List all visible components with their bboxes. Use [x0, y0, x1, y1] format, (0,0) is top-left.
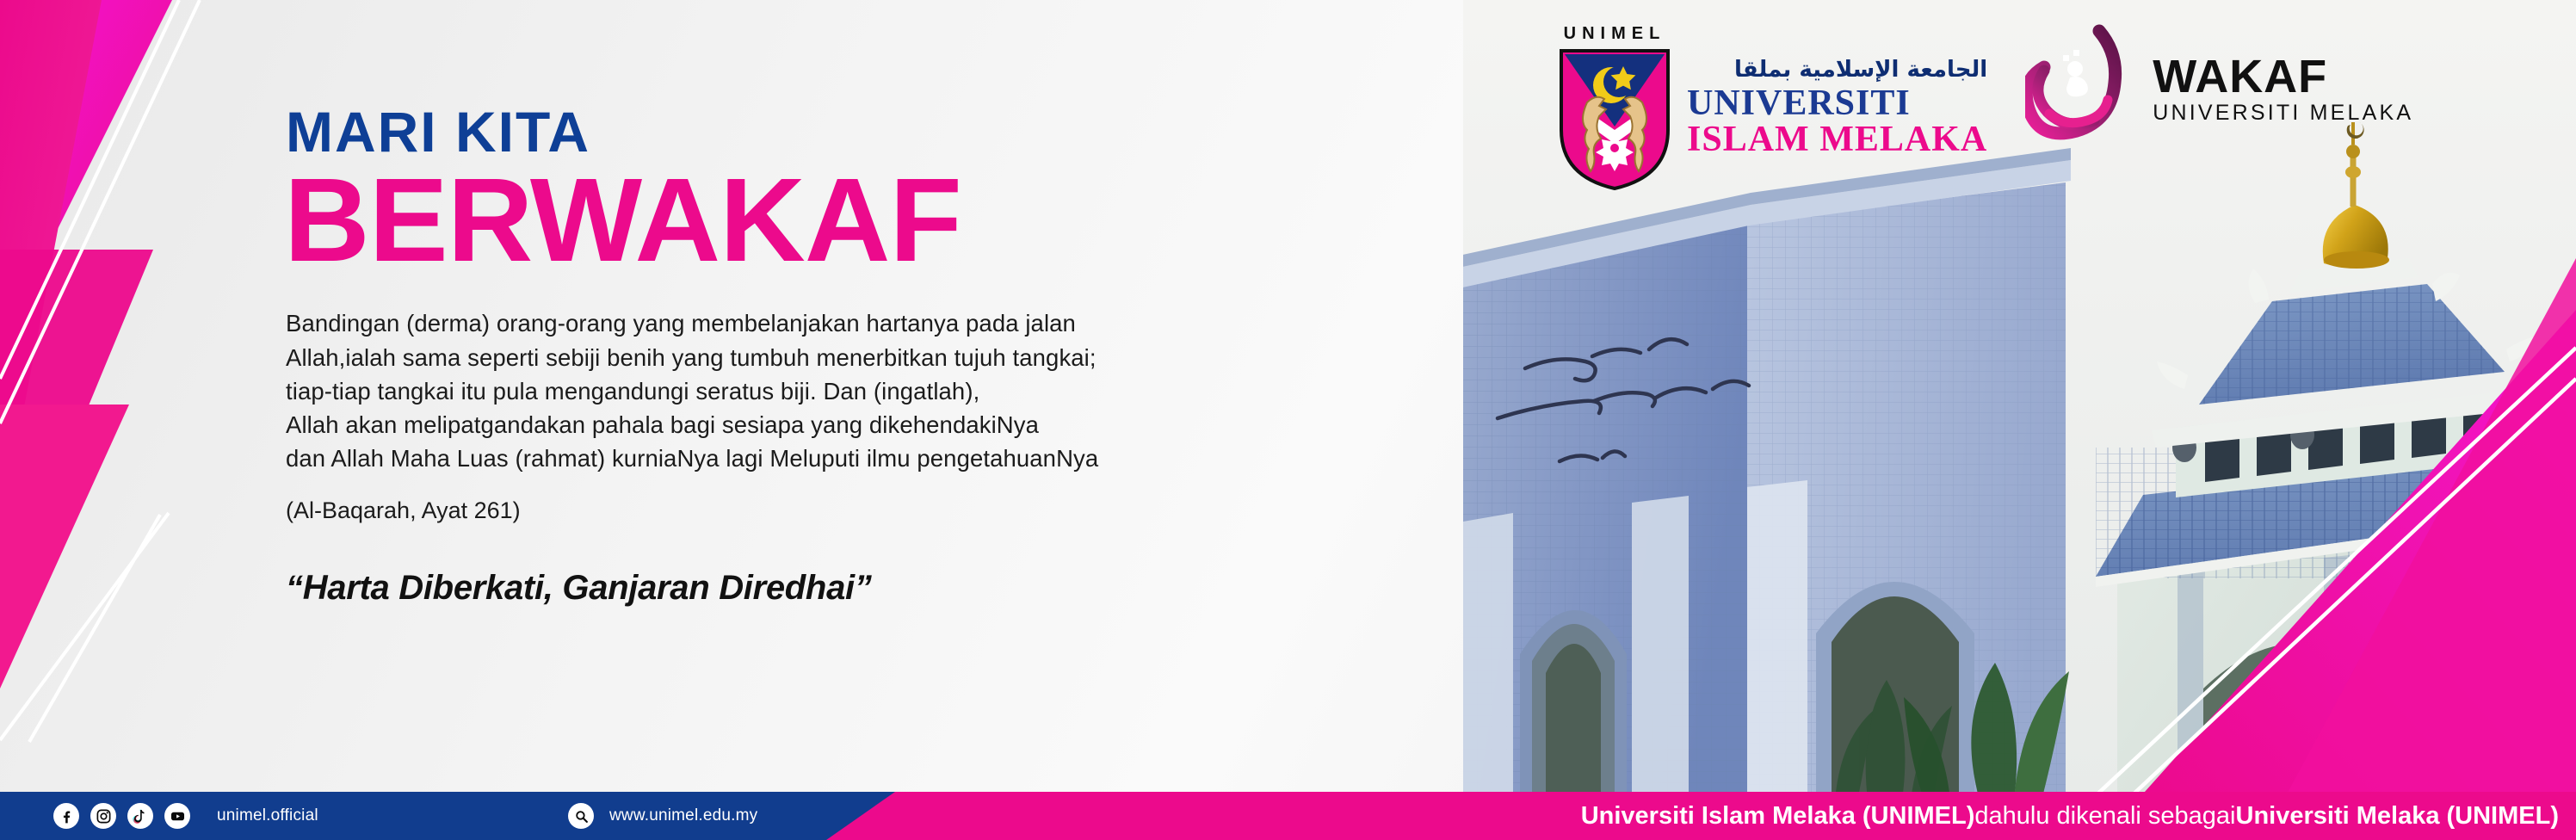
verse-line-5: dan Allah Maha Luas (rahmat) kurniaNya l…	[286, 442, 1420, 475]
verse-line-4: Allah akan melipatgandakan pahala bagi s…	[286, 408, 1420, 442]
unimel-crest-wrap: UNIMEL	[1558, 24, 1671, 192]
logo-group: UNIMEL	[1558, 24, 2413, 192]
wakaf-wordmark: WAKAF UNIVERSITI MELAKA	[2153, 53, 2413, 124]
footer-notice-part3: Universiti Melaka (UNIMEL)	[2236, 802, 2559, 831]
verse-source: (Al-Baqarah, Ayat 261)	[286, 497, 1420, 524]
search-icon[interactable]	[568, 803, 594, 829]
unimel-crest-icon	[1558, 47, 1671, 192]
website-link[interactable]: www.unimel.edu.my	[568, 792, 757, 840]
wakaf-symbol-icon	[2025, 24, 2142, 153]
footer-notice: Universiti Islam Melaka (UNIMEL) dahulu …	[1581, 792, 2559, 840]
quran-verse-text: Bandingan (derma) orang-orang yang membe…	[286, 306, 1420, 474]
website-url: www.unimel.edu.my	[609, 806, 757, 825]
kicker-text: MARI KITA	[286, 103, 1420, 160]
verse-line-1: Bandingan (derma) orang-orang yang membe…	[286, 306, 1420, 340]
unimel-wordmark: الجامعة الإسلامية بملقا UNIVERSITI ISLAM…	[1687, 59, 1987, 157]
wakaf-logo-lockup: WAKAF UNIVERSITI MELAKA	[2025, 24, 2413, 153]
verse-line-3: tiap-tiap tangkai itu pula mengandungi s…	[286, 374, 1420, 408]
unimel-logo-lockup: UNIMEL	[1558, 24, 1987, 192]
headline-content: MARI KITA BERWAKAF Bandingan (derma) ora…	[284, 103, 1420, 608]
unimel-arabic-name: الجامعة الإسلامية بملقا	[1687, 59, 1987, 81]
unimel-name-line1: UNIVERSITI	[1687, 85, 1987, 121]
youtube-icon[interactable]	[164, 803, 190, 829]
wakaf-name-line1: WAKAF	[2153, 53, 2413, 100]
footer-bar: unimel.official www.unimel.edu.my Univer…	[0, 792, 2576, 840]
social-links[interactable]: unimel.official	[53, 792, 318, 840]
campaign-tagline: “Harta Diberkati, Ganjaran Diredhai”	[286, 569, 1420, 608]
verse-line-2: Allah,ialah sama seperti sebiji benih ya…	[286, 341, 1420, 374]
wakaf-campaign-banner: MARI KITA BERWAKAF Bandingan (derma) ora…	[0, 0, 2576, 840]
footer-notice-part2: dahulu dikenali sebagai	[1974, 802, 2235, 831]
main-headline: BERWAKAF	[284, 164, 1420, 277]
wakaf-name-line2: UNIVERSITI MELAKA	[2153, 102, 2413, 124]
footer-notice-part1: Universiti Islam Melaka (UNIMEL)	[1581, 802, 1975, 831]
unimel-name-line2: ISLAM MELAKA	[1687, 121, 1987, 157]
social-handle: unimel.official	[217, 806, 318, 825]
unimel-crest-wordmark: UNIMEL	[1564, 24, 1666, 44]
tiktok-icon[interactable]	[127, 803, 153, 829]
facebook-icon[interactable]	[53, 803, 79, 829]
instagram-icon[interactable]	[90, 803, 116, 829]
